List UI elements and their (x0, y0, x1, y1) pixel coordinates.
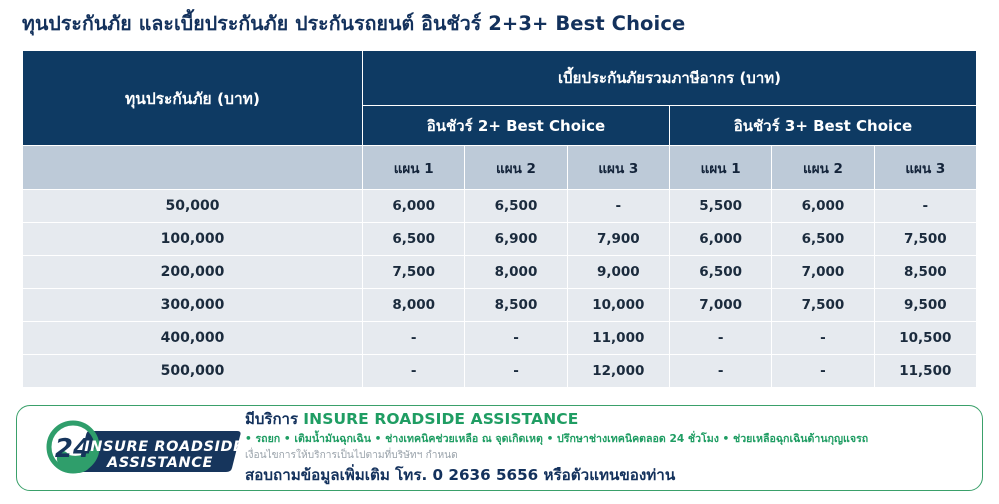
cell-premium: 6,000 (772, 190, 874, 223)
logo-line1-text: INSURE ROADSIDE (84, 439, 242, 455)
cell-premium: 7,900 (567, 223, 669, 256)
cell-premium: 6,000 (669, 223, 771, 256)
header-premium-group: เบี้ยประกันภัยรวมภาษีอากร (บาท) (363, 51, 977, 106)
cell-premium: 7,500 (363, 256, 465, 289)
cell-premium: - (567, 190, 669, 223)
header-plan-2plus-1: แผน 1 (363, 146, 465, 190)
cell-premium: 10,500 (874, 322, 976, 355)
cell-sum-insured: 50,000 (23, 190, 363, 223)
cell-premium: 6,500 (363, 223, 465, 256)
table-row: 200,000 7,500 8,000 9,000 6,500 7,000 8,… (23, 256, 977, 289)
cell-premium: - (363, 322, 465, 355)
footer-text-block: มีบริการ INSURE ROADSIDE ASSISTANCE • รถ… (245, 409, 972, 486)
cell-premium: 7,500 (874, 223, 976, 256)
footer-service-heading: มีบริการ INSURE ROADSIDE ASSISTANCE (245, 409, 972, 430)
cell-premium: - (363, 355, 465, 388)
cell-premium: 6,500 (669, 256, 771, 289)
cell-premium: 6,500 (465, 190, 567, 223)
rate-table: ทุนประกันภัย (บาท) เบี้ยประกันภัยรวมภาษี… (22, 50, 977, 388)
footer-contact-line: สอบถามข้อมูลเพิ่มเติม โทร. 0 2636 5656 ห… (245, 464, 972, 486)
header-row-top: ทุนประกันภัย (บาท) เบี้ยประกันภัยรวมภาษี… (23, 51, 977, 106)
cell-premium: 9,000 (567, 256, 669, 289)
cell-premium: 7,000 (772, 256, 874, 289)
cell-premium: 8,500 (874, 256, 976, 289)
cell-premium: 8,000 (465, 256, 567, 289)
cell-premium: 8,000 (363, 289, 465, 322)
header-plan-3plus-1: แผน 1 (669, 146, 771, 190)
table-row: 400,000 - - 11,000 - - 10,500 (23, 322, 977, 355)
cell-premium: 6,000 (363, 190, 465, 223)
cell-premium: - (669, 322, 771, 355)
cell-premium: 5,500 (669, 190, 771, 223)
header-plan-2plus-2: แผน 2 (465, 146, 567, 190)
cell-premium: 11,500 (874, 355, 976, 388)
header-plan-3plus-3: แผน 3 (874, 146, 976, 190)
footer-service-list: • รถยก • เติมน้ำมันฉุกเฉิน • ช่างเทคนิคช… (245, 430, 972, 448)
table-body: 50,000 6,000 6,500 - 5,500 6,000 - 100,0… (23, 190, 977, 388)
table-row: 500,000 - - 12,000 - - 11,500 (23, 355, 977, 388)
header-row-plans: แผน 1 แผน 2 แผน 3 แผน 1 แผน 2 แผน 3 (23, 146, 977, 190)
header-product-3plus: อินชัวร์ 3+ Best Choice (669, 106, 976, 146)
cell-premium: 6,500 (772, 223, 874, 256)
table-header: ทุนประกันภัย (บาท) เบี้ยประกันภัยรวมภาษี… (23, 51, 977, 190)
footer-service-heading-th: มีบริการ (245, 410, 303, 428)
header-plan-2plus-3: แผน 3 (567, 146, 669, 190)
cell-premium: 8,500 (465, 289, 567, 322)
cell-premium: 7,500 (772, 289, 874, 322)
cell-premium: - (465, 322, 567, 355)
logo-graphic: 24 INSURE ROADSIDE ASSISTANCE (37, 418, 242, 480)
header-sum-insured: ทุนประกันภัย (บาท) (23, 51, 363, 146)
cell-sum-insured: 200,000 (23, 256, 363, 289)
footer-disclaimer: เงื่อนไขการให้บริการเป็นไปตามที่บริษัทฯ … (245, 448, 972, 464)
header-plan-3plus-2: แผน 2 (772, 146, 874, 190)
cell-premium: - (772, 322, 874, 355)
cell-premium: - (669, 355, 771, 388)
page-title: ทุนประกันภัย และเบี้ยประกันภัย ประกันรถย… (22, 8, 685, 39)
cell-sum-insured: 100,000 (23, 223, 363, 256)
cell-premium: 6,900 (465, 223, 567, 256)
insurance-rate-page: ทุนประกันภัย และเบี้ยประกันภัย ประกันรถย… (0, 0, 999, 504)
cell-sum-insured: 500,000 (23, 355, 363, 388)
header-product-2plus: อินชัวร์ 2+ Best Choice (363, 106, 670, 146)
table-row: 100,000 6,500 6,900 7,900 6,000 6,500 7,… (23, 223, 977, 256)
insure-roadside-logo: 24 INSURE ROADSIDE ASSISTANCE (37, 418, 242, 480)
cell-premium: - (465, 355, 567, 388)
table-row: 50,000 6,000 6,500 - 5,500 6,000 - (23, 190, 977, 223)
cell-premium: 10,000 (567, 289, 669, 322)
roadside-assistance-panel: 24 INSURE ROADSIDE ASSISTANCE มีบริการ I… (16, 405, 983, 491)
header-plan-spacer (23, 146, 363, 190)
cell-premium: 11,000 (567, 322, 669, 355)
cell-premium: - (772, 355, 874, 388)
cell-premium: 7,000 (669, 289, 771, 322)
cell-premium: 12,000 (567, 355, 669, 388)
cell-premium: 9,500 (874, 289, 976, 322)
footer-service-heading-en: INSURE ROADSIDE ASSISTANCE (303, 410, 578, 428)
logo-line2-text: ASSISTANCE (106, 455, 213, 471)
cell-premium: - (874, 190, 976, 223)
cell-sum-insured: 300,000 (23, 289, 363, 322)
table-row: 300,000 8,000 8,500 10,000 7,000 7,500 9… (23, 289, 977, 322)
cell-sum-insured: 400,000 (23, 322, 363, 355)
